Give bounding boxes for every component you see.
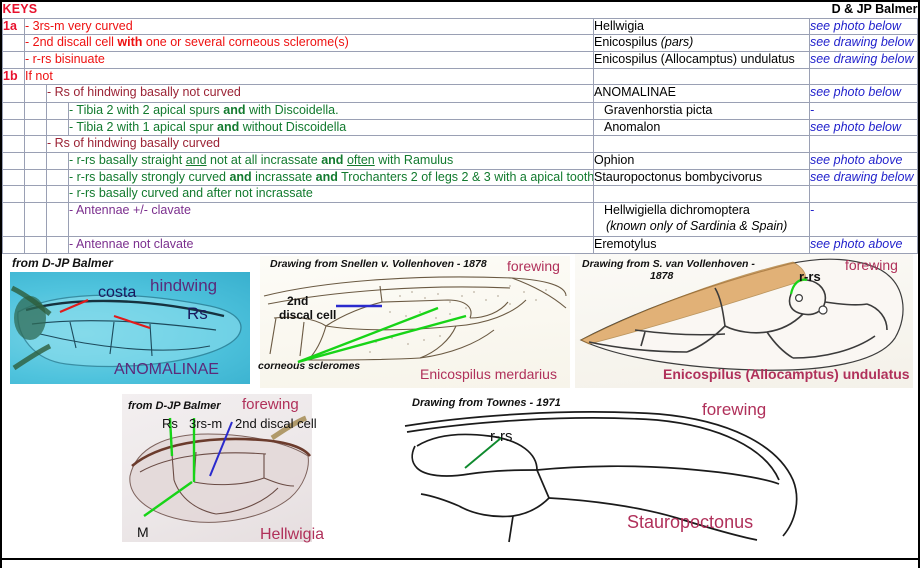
taxon-name: Anomalon (594, 120, 660, 134)
key-couplet-text: - r-rs basally strongly curved and incra… (69, 169, 594, 186)
key-step-number: 1b (3, 68, 25, 85)
page-title: KEYS (3, 2, 594, 18)
key-nest-level-1 (25, 202, 47, 236)
key-page: KEYSD & JP Balmer1a- 3rs-m very curvedHe… (0, 0, 920, 568)
taxon-name: Enicospilus (594, 35, 657, 49)
key-step-number (3, 103, 25, 120)
key-step-number (3, 169, 25, 186)
taxon-name: Stauropoctonus bombycivorus (594, 170, 762, 184)
taxon-cell: Eremotylus (593, 236, 809, 253)
figure-undulatus-credit-line1: Drawing from S. van Vollenhoven - (582, 258, 755, 270)
key-couplet-text: - Tibia 2 with 1 apical spur and without… (69, 119, 594, 136)
figure-merdarius-credit: Drawing from Snellen v. Vollenhoven - 18… (270, 258, 487, 270)
reference-cell[interactable]: see photo above (809, 236, 917, 253)
taxon-name: ANOMALINAE (594, 85, 676, 99)
key-row[interactable]: 1a- 3rs-m very curvedHellwigiasee photo … (3, 18, 918, 35)
reference-cell[interactable]: see drawing below (809, 35, 917, 52)
author-credit: D & JP Balmer (593, 2, 917, 18)
figure-hellwigia-credit: from D-JP Balmer (128, 400, 221, 412)
reference-cell[interactable]: see drawing below (809, 169, 917, 186)
key-step-number (3, 35, 25, 52)
figure-hellwigia-name: Hellwigia (260, 526, 324, 544)
key-row[interactable]: - Antennae not clavateEremotylussee phot… (3, 236, 918, 253)
figure-undulatus-credit-line2: 1878 (650, 270, 673, 282)
key-row[interactable]: - Antennae +/- clavateHellwigiella dichr… (3, 202, 918, 236)
key-step-number: 1a (3, 18, 25, 35)
key-row[interactable]: - r-rs basally curved and after not incr… (3, 186, 918, 203)
key-nest-level-1 (25, 236, 47, 253)
taxon-cell: Anomalon (593, 119, 809, 136)
figure-hellwigia-label-3rsm: 3rs-m (189, 416, 222, 431)
key-couplet-text: - r-rs basally straight and not at all i… (69, 153, 594, 170)
key-nest-level-2 (47, 202, 69, 236)
key-nest-level-1 (25, 169, 47, 186)
key-row[interactable]: - Tibia 2 with 2 apical spurs and with D… (3, 103, 918, 120)
key-nest-level-2 (47, 186, 69, 203)
taxon-cell: Hellwigia (593, 18, 809, 35)
reference-cell[interactable]: see photo above (809, 153, 917, 170)
reference-cell[interactable]: - (809, 103, 917, 120)
key-row[interactable]: - Rs of hindwing basally curved (3, 136, 918, 153)
figure-merdarius-label-cell-line2: discal cell (279, 308, 336, 322)
key-step-number (3, 119, 25, 136)
key-couplet-text: - Rs of hindwing basally curved (47, 136, 594, 153)
key-couplet-text: - 3rs-m very curved (25, 18, 594, 35)
key-couplet-text: - Antennae not clavate (69, 236, 594, 253)
reference-cell[interactable] (809, 136, 917, 153)
figure-merdarius-label-scleromes: corneous scleromes (258, 360, 360, 372)
key-row[interactable]: - r-rs basally strongly curved and incra… (3, 169, 918, 186)
key-step-number (3, 202, 25, 236)
key-step-number (3, 186, 25, 203)
figure-anomalinae-label-costa: costa (98, 284, 136, 302)
key-couplet-text: - Rs of hindwing basally not curved (47, 85, 594, 103)
taxon-cell (593, 136, 809, 153)
reference-cell[interactable]: see photo below (809, 18, 917, 35)
key-couplet-text: - Tibia 2 with 2 apical spurs and with D… (69, 103, 594, 120)
reference-cell[interactable]: see photo below (809, 119, 917, 136)
key-row[interactable]: - r-rs bisinuateEnicospilus (Allocamptus… (3, 51, 918, 68)
reference-cell[interactable] (809, 68, 917, 85)
key-couplet-text: If not (25, 68, 594, 85)
key-row[interactable]: - Rs of hindwing basally not curvedANOMA… (3, 85, 918, 103)
figure-merdarius-name: Enicospilus merdarius (420, 366, 557, 382)
figure-anomalinae-name: ANOMALINAE (114, 361, 219, 379)
taxon-name: Ophion (594, 153, 634, 167)
figure-anomalinae-label-rs: Rs (187, 304, 208, 324)
key-step-number (3, 153, 25, 170)
figure-merdarius-label-cell-line1: 2nd (287, 294, 308, 308)
key-step-number (3, 136, 25, 153)
key-nest-level-2 (47, 103, 69, 120)
figure-hellwigia-label-m: M (137, 524, 149, 540)
figure-merdarius-wingtype: forewing (507, 258, 560, 274)
taxon-cell (593, 68, 809, 85)
key-nest-level-2 (47, 169, 69, 186)
figure-anomalinae-wingtype: hindwing (150, 276, 217, 296)
key-nest-level-2 (47, 236, 69, 253)
taxon-name: Hellwigiella dichromoptera (594, 203, 750, 217)
key-couplet-text: - 2nd discall cell with one or several c… (25, 35, 594, 52)
reference-cell[interactable]: see photo below (809, 85, 917, 103)
taxon-cell: Enicospilus (Allocamptus) undulatus (593, 51, 809, 68)
key-nest-level-1 (25, 119, 47, 136)
key-step-number (3, 85, 25, 103)
figure-undulatus-name: Enicospilus (Allocamptus) undulatus (663, 366, 910, 382)
key-nest-level-1 (25, 85, 47, 103)
figure-stauropoctonus-name: Stauropoctonus (627, 512, 753, 533)
figure-stauropoctonus-wingtype: forewing (702, 400, 766, 420)
key-row[interactable]: - r-rs basally straight and not at all i… (3, 153, 918, 170)
figure-undulatus-label-rrs: r-rs (799, 269, 821, 284)
key-row[interactable]: - Tibia 2 with 1 apical spur and without… (3, 119, 918, 136)
key-step-number (3, 51, 25, 68)
figure-undulatus-wingtype: forewing (845, 257, 898, 273)
key-row[interactable]: - 2nd discall cell with one or several c… (3, 35, 918, 52)
taxon-name: Hellwigia (594, 19, 644, 33)
reference-cell[interactable]: see drawing below (809, 51, 917, 68)
taxon-cell (593, 186, 809, 203)
figure-anomalinae-credit: from D-JP Balmer (12, 256, 113, 270)
figure-hellwigia-label-rs: Rs (162, 416, 178, 431)
figure-hellwigia-label-cell: 2nd discal cell (235, 416, 317, 431)
reference-cell[interactable] (809, 186, 917, 203)
taxon-name: Enicospilus (Allocamptus) undulatus (594, 52, 795, 66)
key-nest-level-2 (47, 119, 69, 136)
taxon-cell: Gravenhorstia picta (593, 103, 809, 120)
reference-cell[interactable]: - (809, 202, 917, 236)
figure-hellwigia-wingtype: forewing (242, 396, 299, 413)
key-nest-level-1 (25, 103, 47, 120)
key-nest-level-1 (25, 186, 47, 203)
taxon-cell: Ophion (593, 153, 809, 170)
taxon-name: Eremotylus (594, 237, 657, 251)
key-row[interactable]: 1bIf not (3, 68, 918, 85)
figure-stauropoctonus-credit: Drawing from Townes - 1971 (412, 397, 561, 409)
key-couplet-text: - Antennae +/- clavate (69, 202, 594, 236)
key-couplet-text: - r-rs bisinuate (25, 51, 594, 68)
taxon-cell: Hellwigiella dichromoptera(known only of… (593, 202, 809, 236)
key-couplet-text: - r-rs basally curved and after not incr… (69, 186, 594, 203)
taxon-cell: Enicospilus (pars) (593, 35, 809, 52)
taxon-name: Gravenhorstia picta (594, 103, 712, 117)
key-header-row: KEYSD & JP Balmer (3, 2, 918, 18)
taxon-cell: ANOMALINAE (593, 85, 809, 103)
key-step-number (3, 236, 25, 253)
bottom-divider (2, 558, 920, 560)
key-nest-level-1 (25, 136, 47, 153)
key-nest-level-2 (47, 153, 69, 170)
figure-panel: from D-JP Balmer hindwing costa Rs ANOMA… (2, 254, 918, 546)
figure-stauropoctonus-label-rrs: r-rs (490, 428, 513, 445)
key-nest-level-1 (25, 153, 47, 170)
identification-key-table: KEYSD & JP Balmer1a- 3rs-m very curvedHe… (2, 2, 918, 254)
taxon-cell: Stauropoctonus bombycivorus (593, 169, 809, 186)
